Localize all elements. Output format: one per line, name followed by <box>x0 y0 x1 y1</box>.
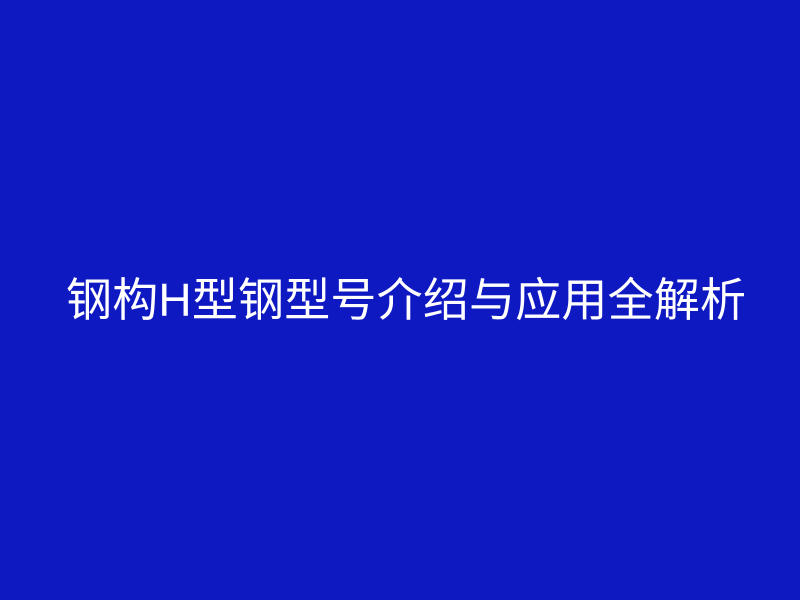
slide-canvas: 钢构H型钢型号介绍与应用全解析 <box>0 0 800 600</box>
page-title: 钢构H型钢型号介绍与应用全解析 <box>66 276 746 324</box>
title-container: 钢构H型钢型号介绍与应用全解析 <box>0 0 800 600</box>
